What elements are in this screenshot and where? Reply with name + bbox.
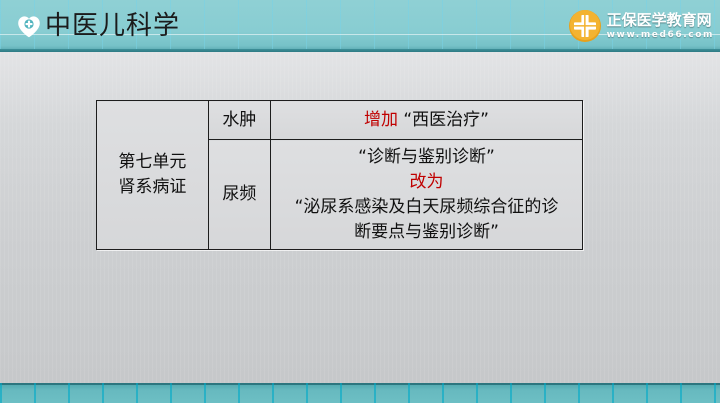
change-line: 增加 “西医治疗” (273, 108, 580, 133)
cell-change-edema: 增加 “西医治疗” (270, 101, 582, 140)
header-bottom-edge (0, 49, 720, 52)
change-keyword: 增加 (364, 110, 398, 130)
table-row: 第七单元 肾系病证 水肿 增加 “西医治疗” (97, 101, 583, 140)
change-line-4: 断要点与鉴别诊断” (273, 220, 580, 245)
cell-topic-edema: 水肿 (208, 101, 270, 140)
change-text: “西医治疗” (398, 110, 489, 130)
heart-cross-icon (17, 15, 41, 38)
brand-logo: 正保医学教育网 www.med66.com (568, 5, 714, 47)
change-line-1: “诊断与鉴别诊断” (273, 145, 580, 170)
slide-canvas: 中医儿科学 正保医学教育网 www.med66.com 第七单元 肾系病证 (0, 0, 720, 403)
unit-line-1: 第七单元 (99, 150, 206, 175)
footer-grid-pattern (0, 383, 720, 403)
change-line-3: “泌尿系感染及白天尿频综合征的诊 (273, 195, 580, 220)
unit-line-2: 肾系病证 (99, 175, 206, 200)
cell-change-frequency: “诊断与鉴别诊断” 改为 “泌尿系感染及白天尿频综合征的诊 断要点与鉴别诊断” (270, 140, 582, 250)
change-line-2-keyword: 改为 (273, 170, 580, 195)
brand-url: www.med66.com (607, 31, 714, 40)
medical-cross-circle-icon (568, 9, 602, 43)
cell-unit: 第七单元 肾系病证 (97, 101, 209, 250)
brand-name: 正保医学教育网 (607, 13, 714, 28)
slide-footer (0, 383, 720, 403)
content-table: 第七单元 肾系病证 水肿 增加 “西医治疗” 尿频 “诊断与鉴别诊断” 改为 “… (96, 100, 583, 250)
brand-logo-text: 正保医学教育网 www.med66.com (607, 13, 714, 40)
page-title: 中医儿科学 (45, 7, 180, 45)
cell-topic-frequency: 尿频 (208, 140, 270, 250)
